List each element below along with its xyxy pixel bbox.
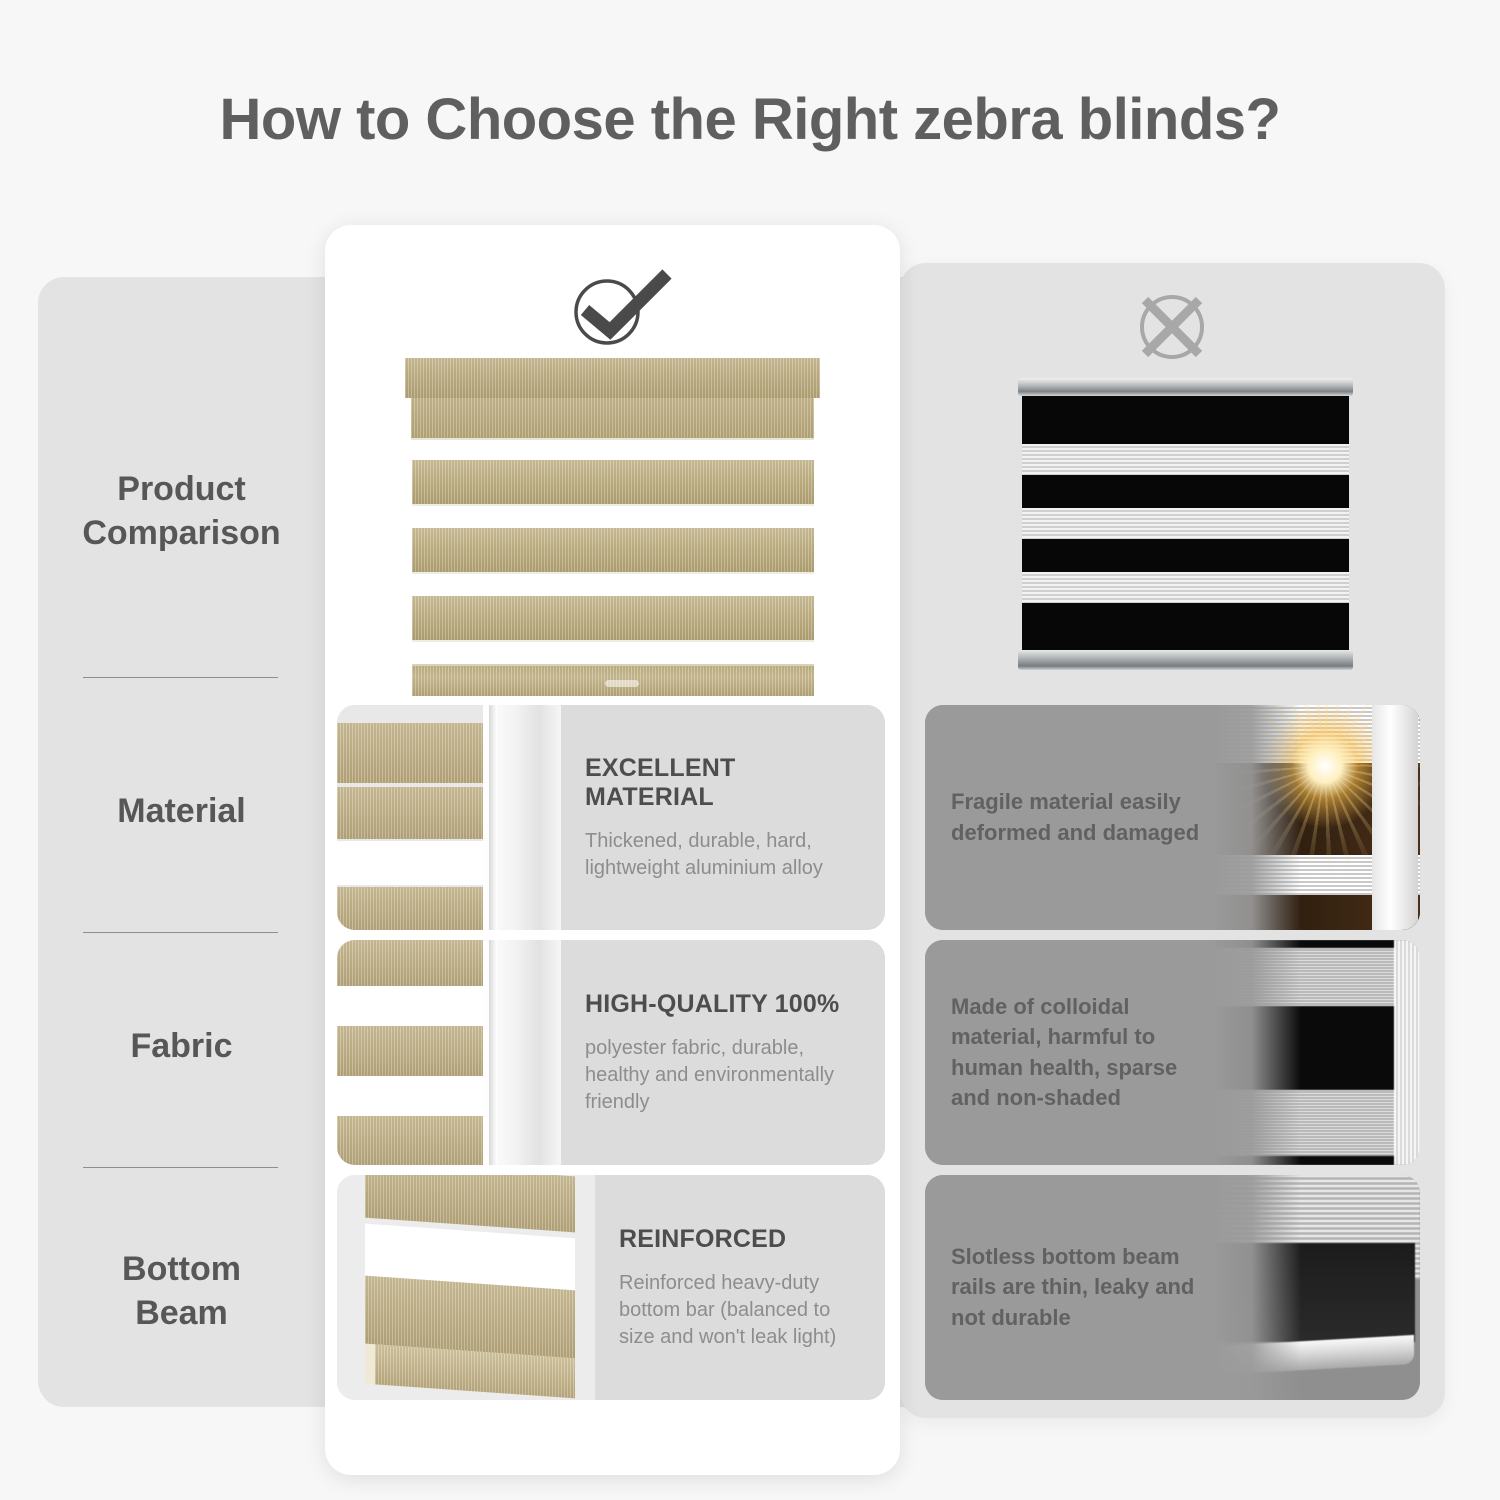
- blind-headrail: [1018, 378, 1353, 396]
- row-label-line1: Product: [82, 468, 280, 512]
- good-feature-fabric-text: HIGH-QUALITY 100% polyester fabric, dura…: [561, 940, 885, 1165]
- blind-texture: [412, 596, 814, 640]
- row-label-material: Material: [38, 777, 325, 847]
- row-label-line2: Beam: [122, 1292, 241, 1336]
- good-feature-material-image: [337, 705, 561, 930]
- photo-window-frame: [483, 705, 561, 930]
- good-feature-bottom-beam-text: REINFORCED Reinforced heavy-duty bottom …: [595, 1175, 885, 1400]
- blind-body: [1022, 396, 1349, 650]
- good-feature-bottom-beam-image: [337, 1175, 595, 1400]
- blind-sheer-band: [1022, 508, 1349, 539]
- row-label-fabric: Fabric: [38, 1012, 325, 1082]
- check-circle-icon: [563, 268, 673, 348]
- bad-feature-fabric: Made of colloidal material, harmful to h…: [925, 940, 1420, 1165]
- row-label-bottom-beam: Bottom Beam: [38, 1232, 325, 1352]
- good-hero-blind-image: [405, 358, 820, 703]
- blind-texture: [365, 1175, 575, 1232]
- row-label-column: Product Comparison Material Fabric Botto…: [38, 277, 325, 1407]
- bad-feature-fabric-text: Made of colloidal material, harmful to h…: [951, 940, 1221, 1165]
- bad-hero-blind-image: [1018, 378, 1353, 668]
- blind-texture: [412, 528, 814, 572]
- blind-texture: [412, 666, 814, 696]
- page-title: How to Choose the Right zebra blinds?: [0, 86, 1500, 153]
- blind-texture: [411, 398, 814, 438]
- bad-feature-bottom-beam-text: Slotless bottom beam rails are thin, lea…: [951, 1175, 1221, 1400]
- feature-body: polyester fabric, durable, healthy and e…: [585, 1035, 863, 1116]
- row-divider-2: [83, 932, 278, 933]
- row-label-line1: Bottom: [122, 1248, 241, 1292]
- bad-feature-material-text: Fragile material easily deformed and dam…: [951, 705, 1221, 930]
- blind-slat: [412, 596, 814, 642]
- good-feature-bottom-beam: REINFORCED Reinforced heavy-duty bottom …: [337, 1175, 885, 1400]
- blind-headrail: [411, 398, 814, 440]
- blind-slat: [412, 460, 814, 506]
- photo-slat: [365, 1175, 575, 1232]
- blind-valance: [405, 358, 820, 398]
- feature-heading: EXCELLENT MATERIAL: [585, 754, 863, 812]
- blind-bottom-rail: [1018, 650, 1353, 670]
- row-label-line2: Comparison: [82, 512, 280, 556]
- blind-bottom-bar: [412, 664, 814, 696]
- good-feature-material: EXCELLENT MATERIAL Thickened, durable, h…: [337, 705, 885, 930]
- row-label-product-comparison: Product Comparison: [38, 447, 325, 577]
- feature-heading: REINFORCED: [619, 1225, 863, 1254]
- blind-slat: [412, 528, 814, 574]
- row-divider-3: [83, 1167, 278, 1168]
- photo-window-frame: [483, 940, 561, 1165]
- bad-feature-bottom-beam: Slotless bottom beam rails are thin, lea…: [925, 1175, 1420, 1400]
- blind-sheer-band: [1022, 572, 1349, 603]
- good-feature-material-text: EXCELLENT MATERIAL Thickened, durable, h…: [561, 705, 885, 930]
- row-divider-1: [83, 677, 278, 678]
- blind-texture: [405, 358, 820, 398]
- feature-body: Reinforced heavy-duty bottom bar (balanc…: [619, 1270, 863, 1351]
- blind-sheer-band: [1022, 444, 1349, 475]
- row-label-line1: Fabric: [130, 1025, 232, 1069]
- feature-heading: HIGH-QUALITY 100%: [585, 990, 863, 1019]
- blind-texture: [412, 460, 814, 504]
- row-label-line1: Material: [117, 790, 246, 834]
- feature-body: Thickened, durable, hard, lightweight al…: [585, 828, 863, 882]
- good-feature-fabric: HIGH-QUALITY 100% polyester fabric, dura…: [337, 940, 885, 1165]
- cross-circle-icon: [1133, 288, 1211, 366]
- bad-feature-material: Fragile material easily deformed and dam…: [925, 705, 1420, 930]
- good-feature-fabric-image: [337, 940, 561, 1165]
